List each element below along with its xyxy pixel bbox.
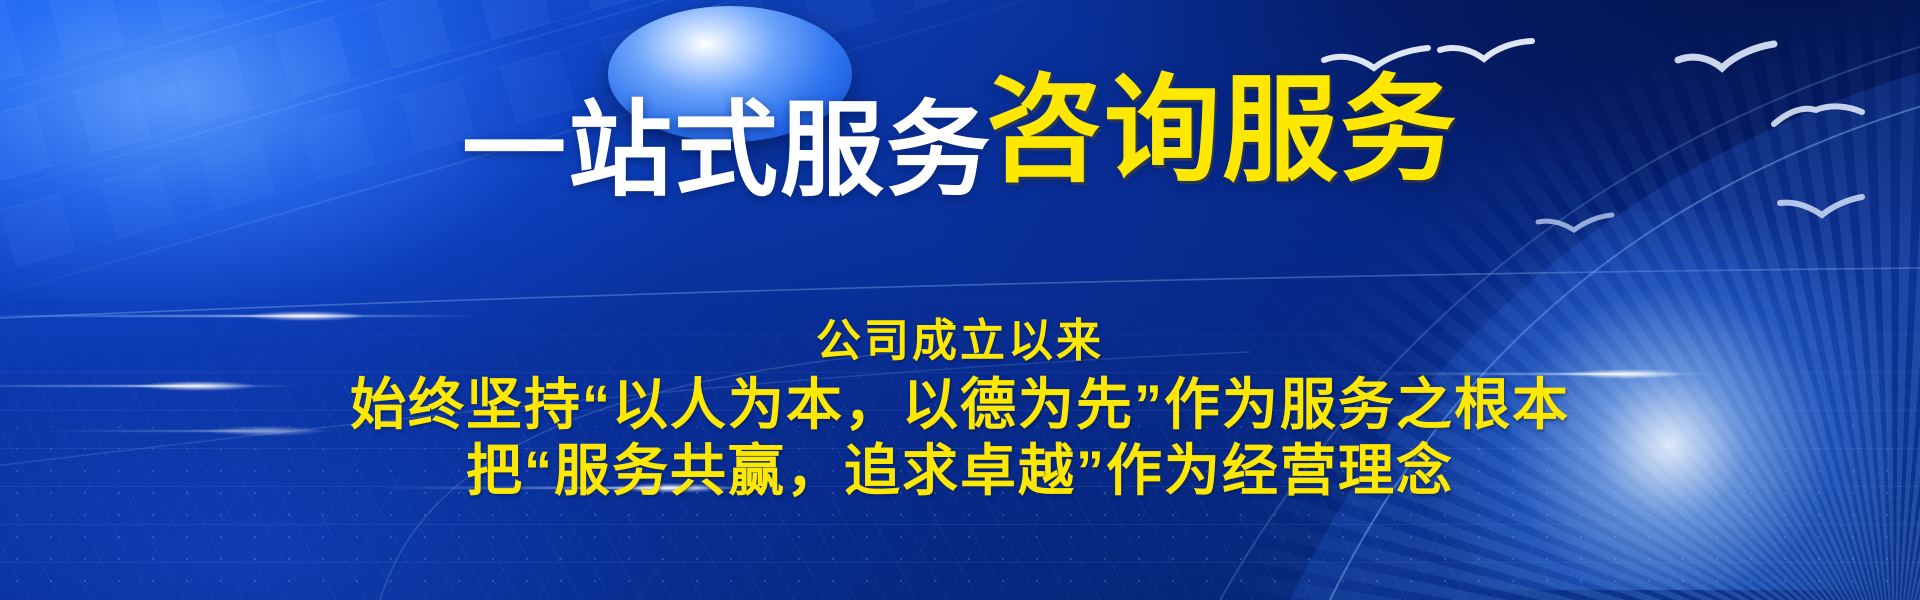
headline-accent: 咨询服务	[986, 65, 1458, 195]
headline-primary: 一站式服务	[462, 93, 992, 209]
headline: 一站式服务咨询服务	[0, 88, 1920, 204]
body-line-2: 始终坚持“以人为本，以德为先”作为服务之根本	[0, 377, 1920, 433]
seagull-icon-2	[1438, 38, 1534, 68]
light-streak-1	[0, 315, 480, 317]
body-line-1: 公司成立以来	[0, 318, 1920, 363]
seagull-icon-6	[1536, 212, 1614, 236]
promo-banner: 一站式服务咨询服务 公司成立以来 始终坚持“以人为本，以德为先”作为服务之根本 …	[0, 0, 1920, 600]
body-copy: 公司成立以来 始终坚持“以人为本，以德为先”作为服务之根本 把“服务共赢，追求卓…	[0, 318, 1920, 509]
body-line-3: 把“服务共赢，追求卓越”作为经营理念	[0, 443, 1920, 499]
seagull-icon-3	[1676, 42, 1776, 76]
